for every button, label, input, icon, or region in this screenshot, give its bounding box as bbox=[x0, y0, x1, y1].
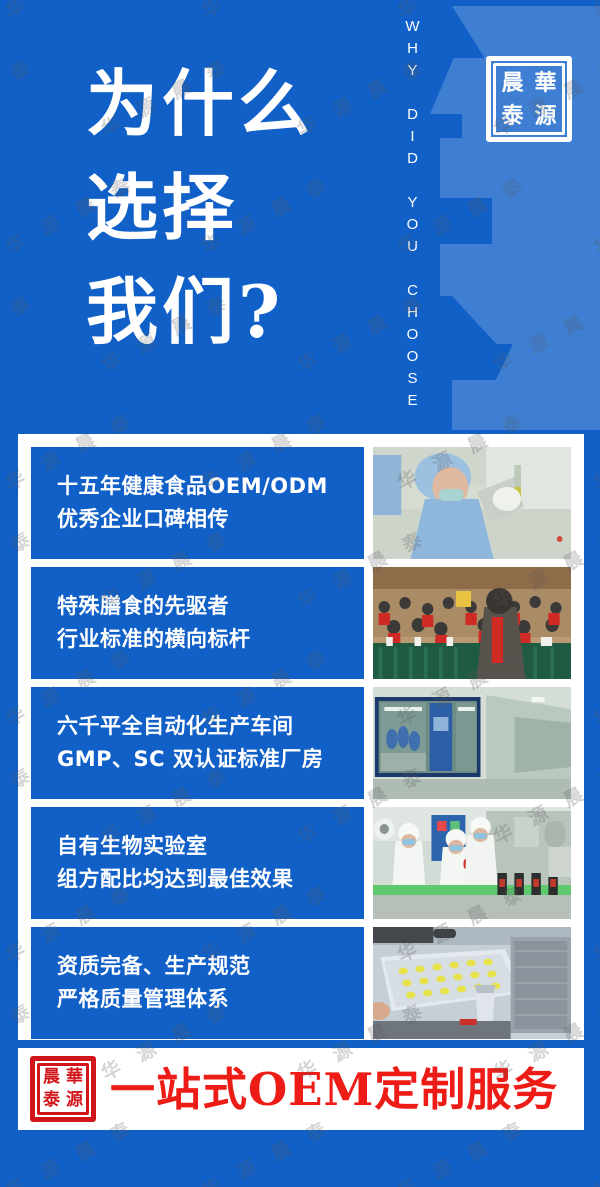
headline-line-3: 我们? bbox=[86, 260, 386, 364]
seal-character-grid: 晨 華 泰 源 bbox=[493, 63, 565, 135]
seal-char-1: 晨 bbox=[496, 66, 529, 99]
page-title: 为什么 选择 我们? bbox=[86, 52, 386, 364]
feature-4-line-2: 组方配比均达到最佳效果 bbox=[57, 863, 364, 896]
watermark-text: 华 源 晨 泰 bbox=[588, 876, 600, 968]
cta-slogan: 一站式OEM定制服务 bbox=[110, 1067, 558, 1112]
feature-card-text-4: 自有生物实验室 组方配比均达到最佳效果 bbox=[31, 807, 364, 919]
feature-card-text-2: 特殊膳食的先驱者 行业标准的横向标杆 bbox=[31, 567, 364, 679]
seal-red-char-1: 晨 bbox=[40, 1066, 63, 1089]
feature-1-line-1: 十五年健康食品OEM/ODM bbox=[57, 470, 364, 503]
feature-2-line-1: 特殊膳食的先驱者 bbox=[57, 590, 364, 623]
feature-photo-blister-packing-machine bbox=[373, 927, 571, 1039]
feature-photo-lab-technician bbox=[373, 447, 571, 559]
seal-red-char-4: 源 bbox=[63, 1089, 86, 1112]
feature-row-3: 六千平全自动化生产车间 GMP、SC 双认证标准厂房 bbox=[31, 687, 571, 799]
feature-row-1: 十五年健康食品OEM/ODM 优秀企业口碑相传 bbox=[31, 447, 571, 559]
watermark-text: 华 源 晨 泰 bbox=[588, 640, 600, 732]
feature-photo-production-line-workers bbox=[373, 807, 571, 919]
photo-cleanroom-corridor-illustration bbox=[373, 687, 571, 799]
company-seal-logo-white: 晨 華 泰 源 bbox=[486, 56, 572, 142]
feature-2-line-2: 行业标准的横向标杆 bbox=[57, 623, 364, 656]
feature-photo-cleanroom-corridor bbox=[373, 687, 571, 799]
feature-5-line-2: 严格质量管理体系 bbox=[57, 983, 364, 1016]
feature-card-text-1: 十五年健康食品OEM/ODM 优秀企业口碑相传 bbox=[31, 447, 364, 559]
seal-char-2: 華 bbox=[529, 66, 562, 99]
photo-lab-technician-illustration bbox=[373, 447, 571, 559]
feature-5-line-1: 资质完备、生产规范 bbox=[57, 950, 364, 983]
seal-char-3: 泰 bbox=[496, 99, 529, 132]
seal-red-char-2: 華 bbox=[63, 1066, 86, 1089]
feature-4-line-1: 自有生物实验室 bbox=[57, 830, 364, 863]
feature-row-2: 特殊膳食的先驱者 行业标准的横向标杆 bbox=[31, 567, 571, 679]
feature-1-line-2: 优秀企业口碑相传 bbox=[57, 503, 364, 536]
photo-conference-audience-illustration bbox=[373, 567, 571, 679]
bottom-cta-banner: 晨 華 泰 源 一站式OEM定制服务 bbox=[18, 1048, 584, 1130]
headline-line-2: 选择 bbox=[86, 156, 386, 260]
feature-3-line-1: 六千平全自动化生产车间 bbox=[57, 710, 364, 743]
photo-production-line-workers-illustration bbox=[373, 807, 571, 919]
poster-header: 为什么 选择 我们? WHY DID YOU CHOOSE US 晨 華 泰 源 bbox=[0, 0, 600, 440]
features-panel: 十五年健康食品OEM/ODM 优秀企业口碑相传 bbox=[18, 434, 584, 1040]
headline-line-1: 为什么 bbox=[86, 52, 386, 156]
watermark-text: 华 源 晨 泰 bbox=[588, 1112, 600, 1187]
photo-blister-packing-machine-illustration bbox=[373, 927, 571, 1039]
feature-card-text-3: 六千平全自动化生产车间 GMP、SC 双认证标准厂房 bbox=[31, 687, 364, 799]
feature-3-line-2: GMP、SC 双认证标准厂房 bbox=[57, 743, 364, 776]
vertical-english-subtitle: WHY DID YOU CHOOSE US bbox=[404, 18, 421, 398]
feature-row-4: 自有生物实验室 组方配比均达到最佳效果 bbox=[31, 807, 571, 919]
seal-red-char-3: 泰 bbox=[40, 1089, 63, 1112]
feature-photo-conference-audience bbox=[373, 567, 571, 679]
seal-character-grid-red: 晨 華 泰 源 bbox=[37, 1063, 89, 1115]
feature-card-text-5: 资质完备、生产规范 严格质量管理体系 bbox=[31, 927, 364, 1039]
seal-char-4: 源 bbox=[529, 99, 562, 132]
feature-row-5: 资质完备、生产规范 严格质量管理体系 bbox=[31, 927, 571, 1039]
company-seal-logo-red: 晨 華 泰 源 bbox=[30, 1056, 96, 1122]
